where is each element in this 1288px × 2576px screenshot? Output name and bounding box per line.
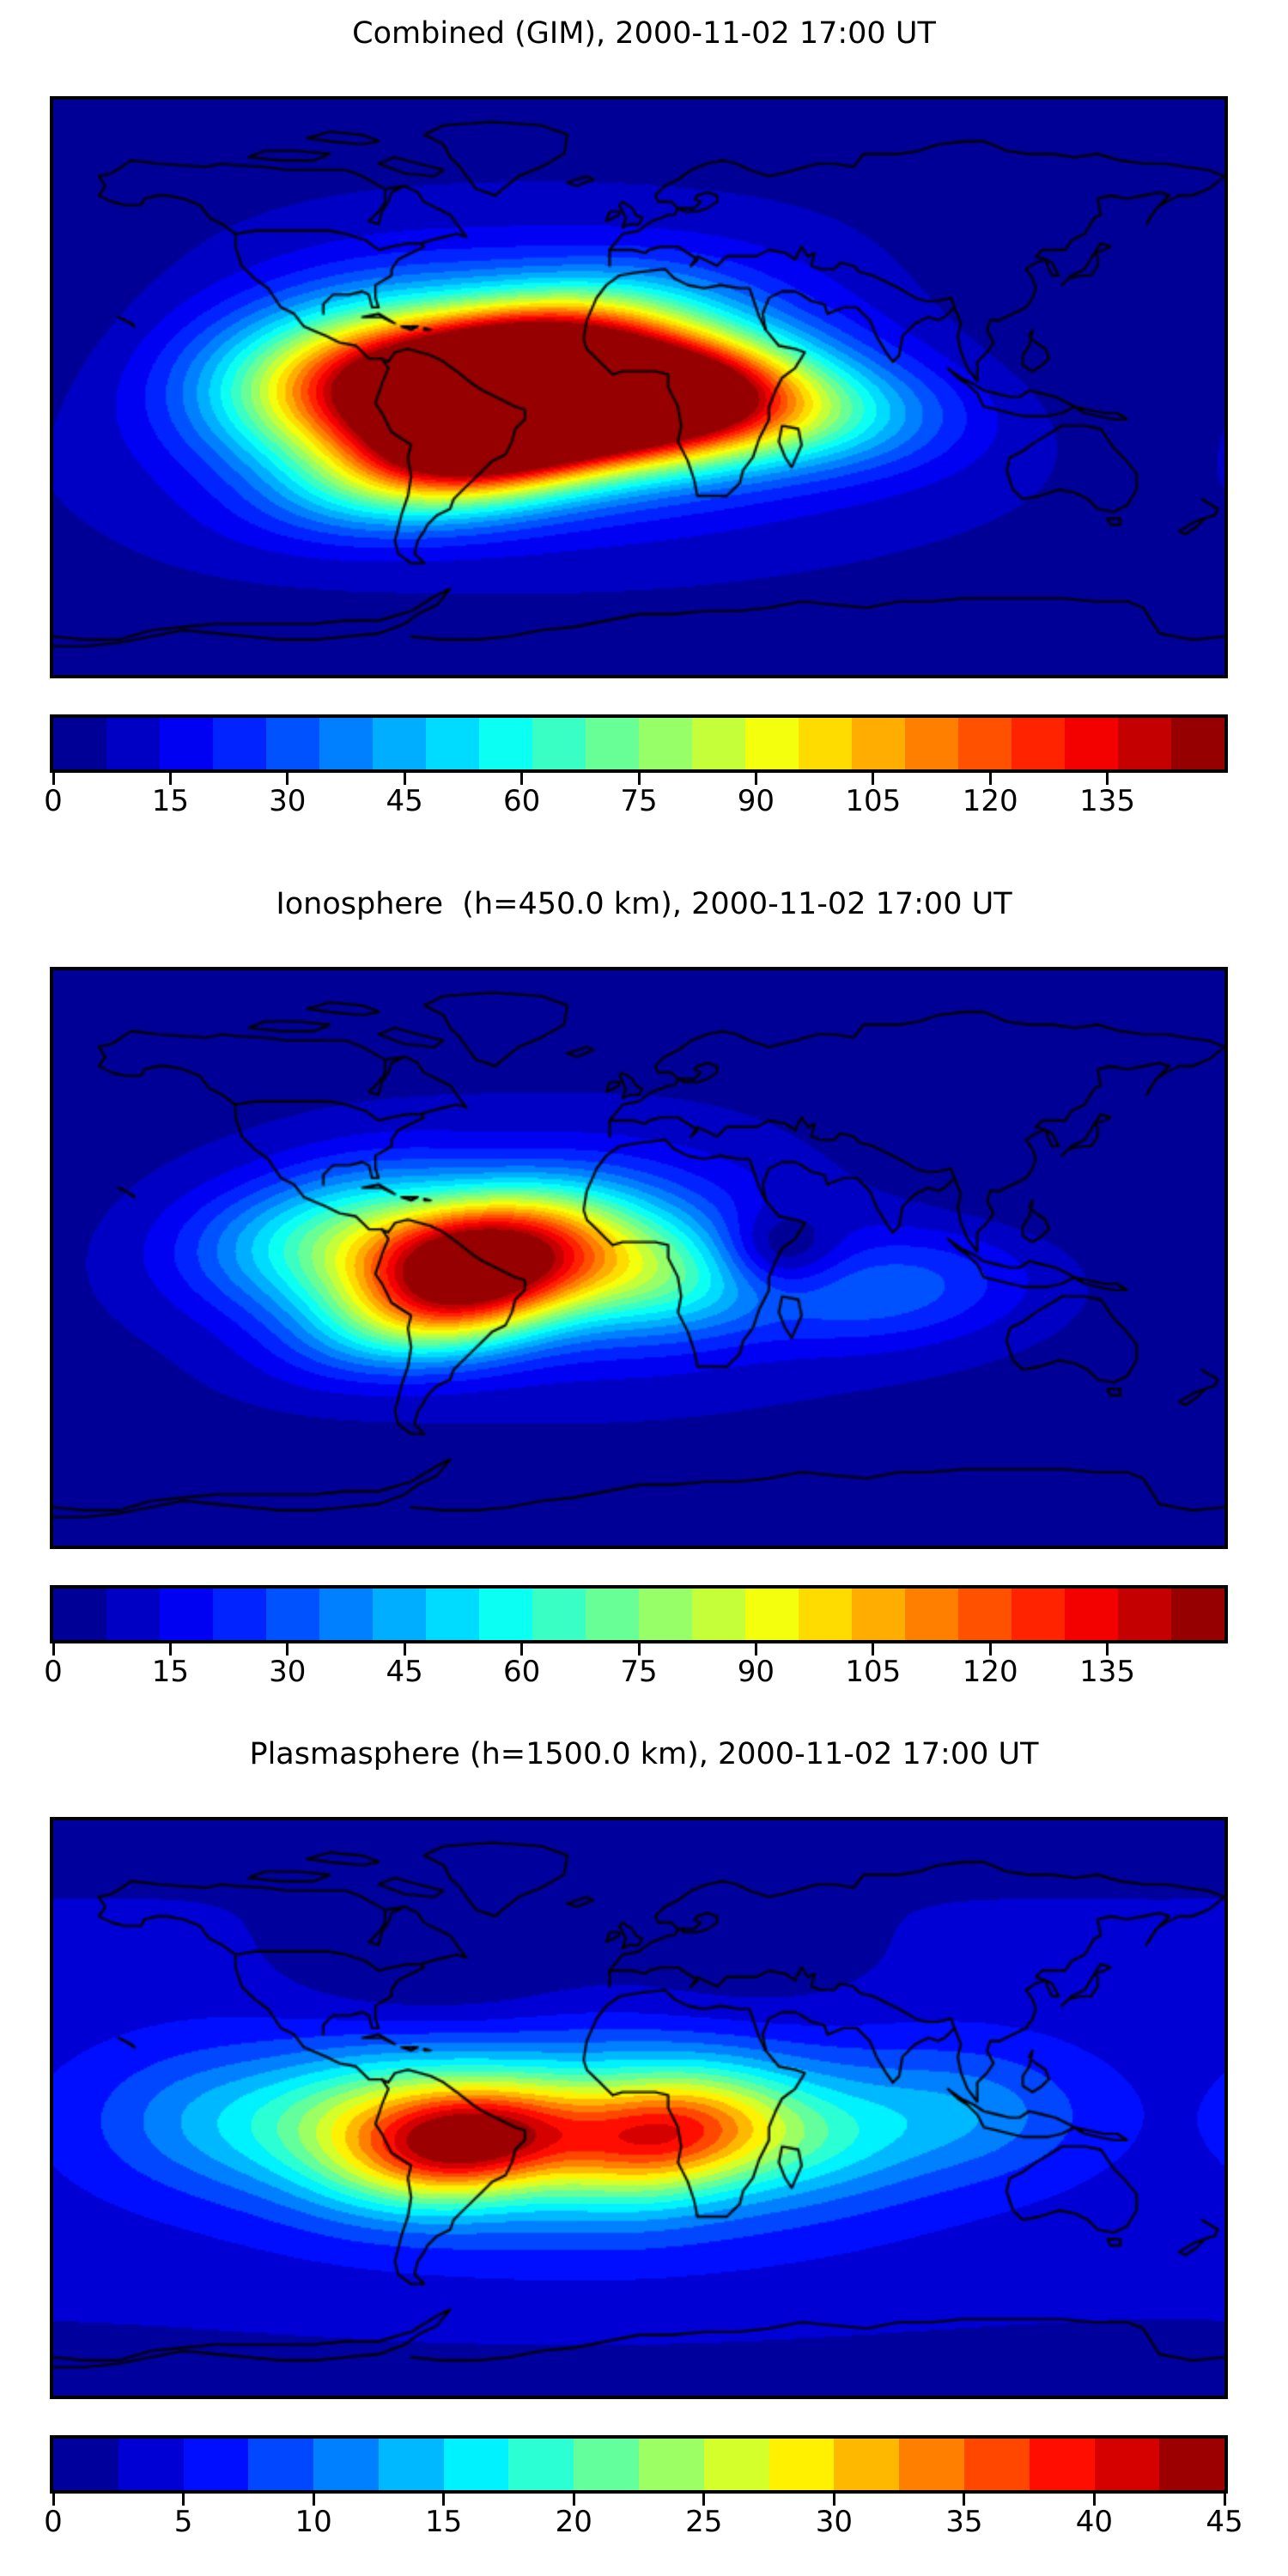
colorbar-segment — [373, 1589, 426, 1640]
colorbar-segment — [745, 1589, 799, 1640]
colorbar-segment — [444, 2439, 509, 2490]
colorbar-segment — [426, 1589, 479, 1640]
colorbar-tick-label: 5 — [174, 2507, 193, 2537]
colorbar-segment — [532, 1589, 586, 1640]
colorbar-segment — [508, 2439, 574, 2490]
colorbar-tick-label: 105 — [845, 1657, 901, 1686]
map-ionosphere — [50, 967, 1228, 1549]
colorbar-gradient-plasmasphere — [50, 2435, 1228, 2494]
colorbar-tick-label: 135 — [1079, 787, 1135, 816]
colorbar-tick — [638, 1643, 641, 1656]
map-canvas-plasmasphere — [53, 1820, 1224, 2396]
colorbar-tick — [286, 773, 289, 785]
colorbar-tick-label: 60 — [503, 1657, 540, 1686]
panel-title-ionosphere: Ionosphere (h=450.0 km), 2000-11-02 17:0… — [0, 890, 1288, 920]
colorbar-tick-label: 30 — [269, 1657, 306, 1686]
colorbar-tick — [1093, 2494, 1096, 2506]
colorbar-tick-label: 45 — [386, 1657, 423, 1686]
colorbar-tick — [1106, 773, 1109, 785]
colorbar-tick — [286, 1643, 289, 1656]
colorbar-tick-label: 90 — [738, 787, 775, 816]
colorbar-segment — [106, 1589, 160, 1640]
colorbar-tick-label: 15 — [425, 2507, 462, 2537]
colorbar-tick — [404, 1643, 406, 1656]
colorbar-segment — [586, 718, 639, 769]
colorbar-segment — [319, 718, 373, 769]
panel-ionosphere: Ionosphere (h=450.0 km), 2000-11-02 17:0… — [0, 867, 1288, 1735]
colorbar-tick-label: 45 — [386, 787, 423, 816]
colorbar-segment — [1030, 2439, 1095, 2490]
colorbar-tick-label: 25 — [685, 2507, 722, 2537]
colorbar-segment — [106, 718, 160, 769]
colorbar-segment — [373, 718, 426, 769]
colorbar-tick — [520, 1643, 523, 1656]
colorbar-segment — [184, 2439, 249, 2490]
colorbar-gradient-ionosphere — [50, 1585, 1228, 1643]
colorbar-segment — [1171, 1589, 1224, 1640]
colorbar-segment — [118, 2439, 184, 2490]
colorbar-segment — [905, 1589, 958, 1640]
colorbar-tick-label: 30 — [816, 2507, 853, 2537]
colorbar-segment — [834, 2439, 899, 2490]
colorbar-tick — [404, 773, 406, 785]
colorbar-tick — [755, 773, 757, 785]
colorbar-tick — [989, 773, 992, 785]
colorbar-segment — [53, 2439, 118, 2490]
colorbar-tick — [638, 773, 641, 785]
colorbar-tick — [872, 773, 874, 785]
colorbar-segment — [745, 718, 799, 769]
map-canvas-ionosphere — [53, 970, 1224, 1546]
map-canvas-combined — [53, 100, 1224, 675]
colorbar-tick-label: 90 — [738, 1657, 775, 1686]
colorbar-segment — [319, 1589, 373, 1640]
colorbar-tick-label: 15 — [152, 1657, 189, 1686]
colorbar-segment — [53, 718, 106, 769]
colorbar-ticks-combined — [50, 773, 1228, 785]
colorbar-tick-label: 15 — [152, 787, 189, 816]
colorbar-segment — [379, 2439, 444, 2490]
colorbar-tick — [52, 1643, 55, 1656]
colorbar-ticks-ionosphere — [50, 1643, 1228, 1656]
colorbar-segment — [639, 1589, 692, 1640]
colorbar-segment — [692, 718, 745, 769]
colorbar-tick-label: 0 — [44, 787, 63, 816]
colorbar-segment — [769, 2439, 835, 2490]
colorbar-segment — [1159, 2439, 1224, 2490]
colorbar-segment — [248, 2439, 313, 2490]
colorbar-segment — [1065, 1589, 1118, 1640]
colorbar-tick — [833, 2494, 835, 2506]
colorbar-segment — [1095, 2439, 1160, 2490]
colorbar-segment — [479, 1589, 532, 1640]
colorbar-segment — [426, 718, 479, 769]
colorbar-tick — [520, 773, 523, 785]
colorbar-tick — [52, 773, 55, 785]
colorbar-tick — [702, 2494, 705, 2506]
colorbar-segment — [1171, 718, 1224, 769]
colorbar-ionosphere: 0153045607590105120135 — [50, 1585, 1228, 1695]
colorbar-tick-label: 20 — [556, 2507, 592, 2537]
colorbar-tick — [1224, 2494, 1226, 2506]
colorbar-segment — [799, 718, 852, 769]
colorbar-segment — [53, 1589, 106, 1640]
colorbar-segment — [852, 1589, 905, 1640]
colorbar-segment — [692, 1589, 745, 1640]
colorbar-tick-label: 75 — [620, 787, 657, 816]
colorbar-segment — [479, 718, 532, 769]
colorbar-tick-label: 40 — [1076, 2507, 1113, 2537]
colorbar-tick — [169, 773, 172, 785]
colorbar-tick — [963, 2494, 965, 2506]
colorbar-tick-label: 120 — [963, 1657, 1018, 1686]
colorbar-segment — [964, 2439, 1030, 2490]
colorbar-segment — [639, 718, 692, 769]
colorbar-labels-ionosphere: 0153045607590105120135 — [50, 1656, 1228, 1695]
colorbar-tick-label: 35 — [945, 2507, 982, 2537]
colorbar-segment — [852, 718, 905, 769]
colorbar-segment — [160, 718, 213, 769]
colorbar-segment — [586, 1589, 639, 1640]
colorbar-tick — [872, 1643, 874, 1656]
colorbar-segment — [1012, 718, 1065, 769]
colorbar-tick — [169, 1643, 172, 1656]
colorbar-tick-label: 30 — [269, 787, 306, 816]
colorbar-segment — [905, 718, 958, 769]
colorbar-segment — [532, 718, 586, 769]
colorbar-segment — [958, 718, 1012, 769]
colorbar-segment — [799, 1589, 852, 1640]
colorbar-tick-label: 105 — [845, 787, 901, 816]
colorbar-tick — [52, 2494, 55, 2506]
map-combined-gim — [50, 96, 1228, 678]
panel-title-combined: Combined (GIM), 2000-11-02 17:00 UT — [0, 19, 1288, 49]
colorbar-tick — [313, 2494, 315, 2506]
colorbar-segment — [1012, 1589, 1065, 1640]
colorbar-segment — [958, 1589, 1012, 1640]
colorbar-segment — [313, 2439, 379, 2490]
panel-plasmasphere: Plasmasphere (h=1500.0 km), 2000-11-02 1… — [0, 1735, 1288, 2576]
colorbar-tick-label: 10 — [295, 2507, 331, 2537]
colorbar-segment — [899, 2439, 964, 2490]
colorbar-gradient-combined — [50, 714, 1228, 773]
colorbar-segment — [1118, 1589, 1171, 1640]
colorbar-segment — [574, 2439, 639, 2490]
colorbar-tick — [1106, 1643, 1109, 1656]
colorbar-segment — [1065, 718, 1118, 769]
colorbar-labels-combined: 0153045607590105120135 — [50, 785, 1228, 824]
colorbar-tick — [755, 1643, 757, 1656]
colorbar-segment — [1118, 718, 1171, 769]
colorbar-segment — [213, 718, 266, 769]
tec-figure: Combined (GIM), 2000-11-02 17:00 UT 0153… — [0, 0, 1288, 2576]
panel-title-plasmasphere: Plasmasphere (h=1500.0 km), 2000-11-02 1… — [0, 1740, 1288, 1770]
colorbar-tick — [442, 2494, 445, 2506]
colorbar-plasmasphere: 051015202530354045 — [50, 2435, 1228, 2545]
colorbar-tick — [989, 1643, 992, 1656]
panel-combined-gim: Combined (GIM), 2000-11-02 17:00 UT 0153… — [0, 0, 1288, 867]
colorbar-tick-label: 45 — [1206, 2507, 1242, 2537]
colorbar-segment — [160, 1589, 213, 1640]
colorbar-tick-label: 75 — [620, 1657, 657, 1686]
colorbar-segment — [704, 2439, 769, 2490]
colorbar-tick-label: 135 — [1079, 1657, 1135, 1686]
colorbar-tick-label: 120 — [963, 787, 1018, 816]
map-plasmasphere — [50, 1817, 1228, 2399]
colorbar-tick — [182, 2494, 185, 2506]
colorbar-segment — [266, 1589, 319, 1640]
colorbar-tick-label: 0 — [44, 1657, 63, 1686]
colorbar-segment — [213, 1589, 266, 1640]
colorbar-labels-plasmasphere: 051015202530354045 — [50, 2506, 1228, 2545]
colorbar-tick-label: 60 — [503, 787, 540, 816]
colorbar-tick — [573, 2494, 575, 2506]
colorbar-combined: 0153045607590105120135 — [50, 714, 1228, 824]
colorbar-ticks-plasmasphere — [50, 2494, 1228, 2506]
colorbar-tick-label: 0 — [44, 2507, 63, 2537]
colorbar-segment — [266, 718, 319, 769]
colorbar-segment — [639, 2439, 704, 2490]
